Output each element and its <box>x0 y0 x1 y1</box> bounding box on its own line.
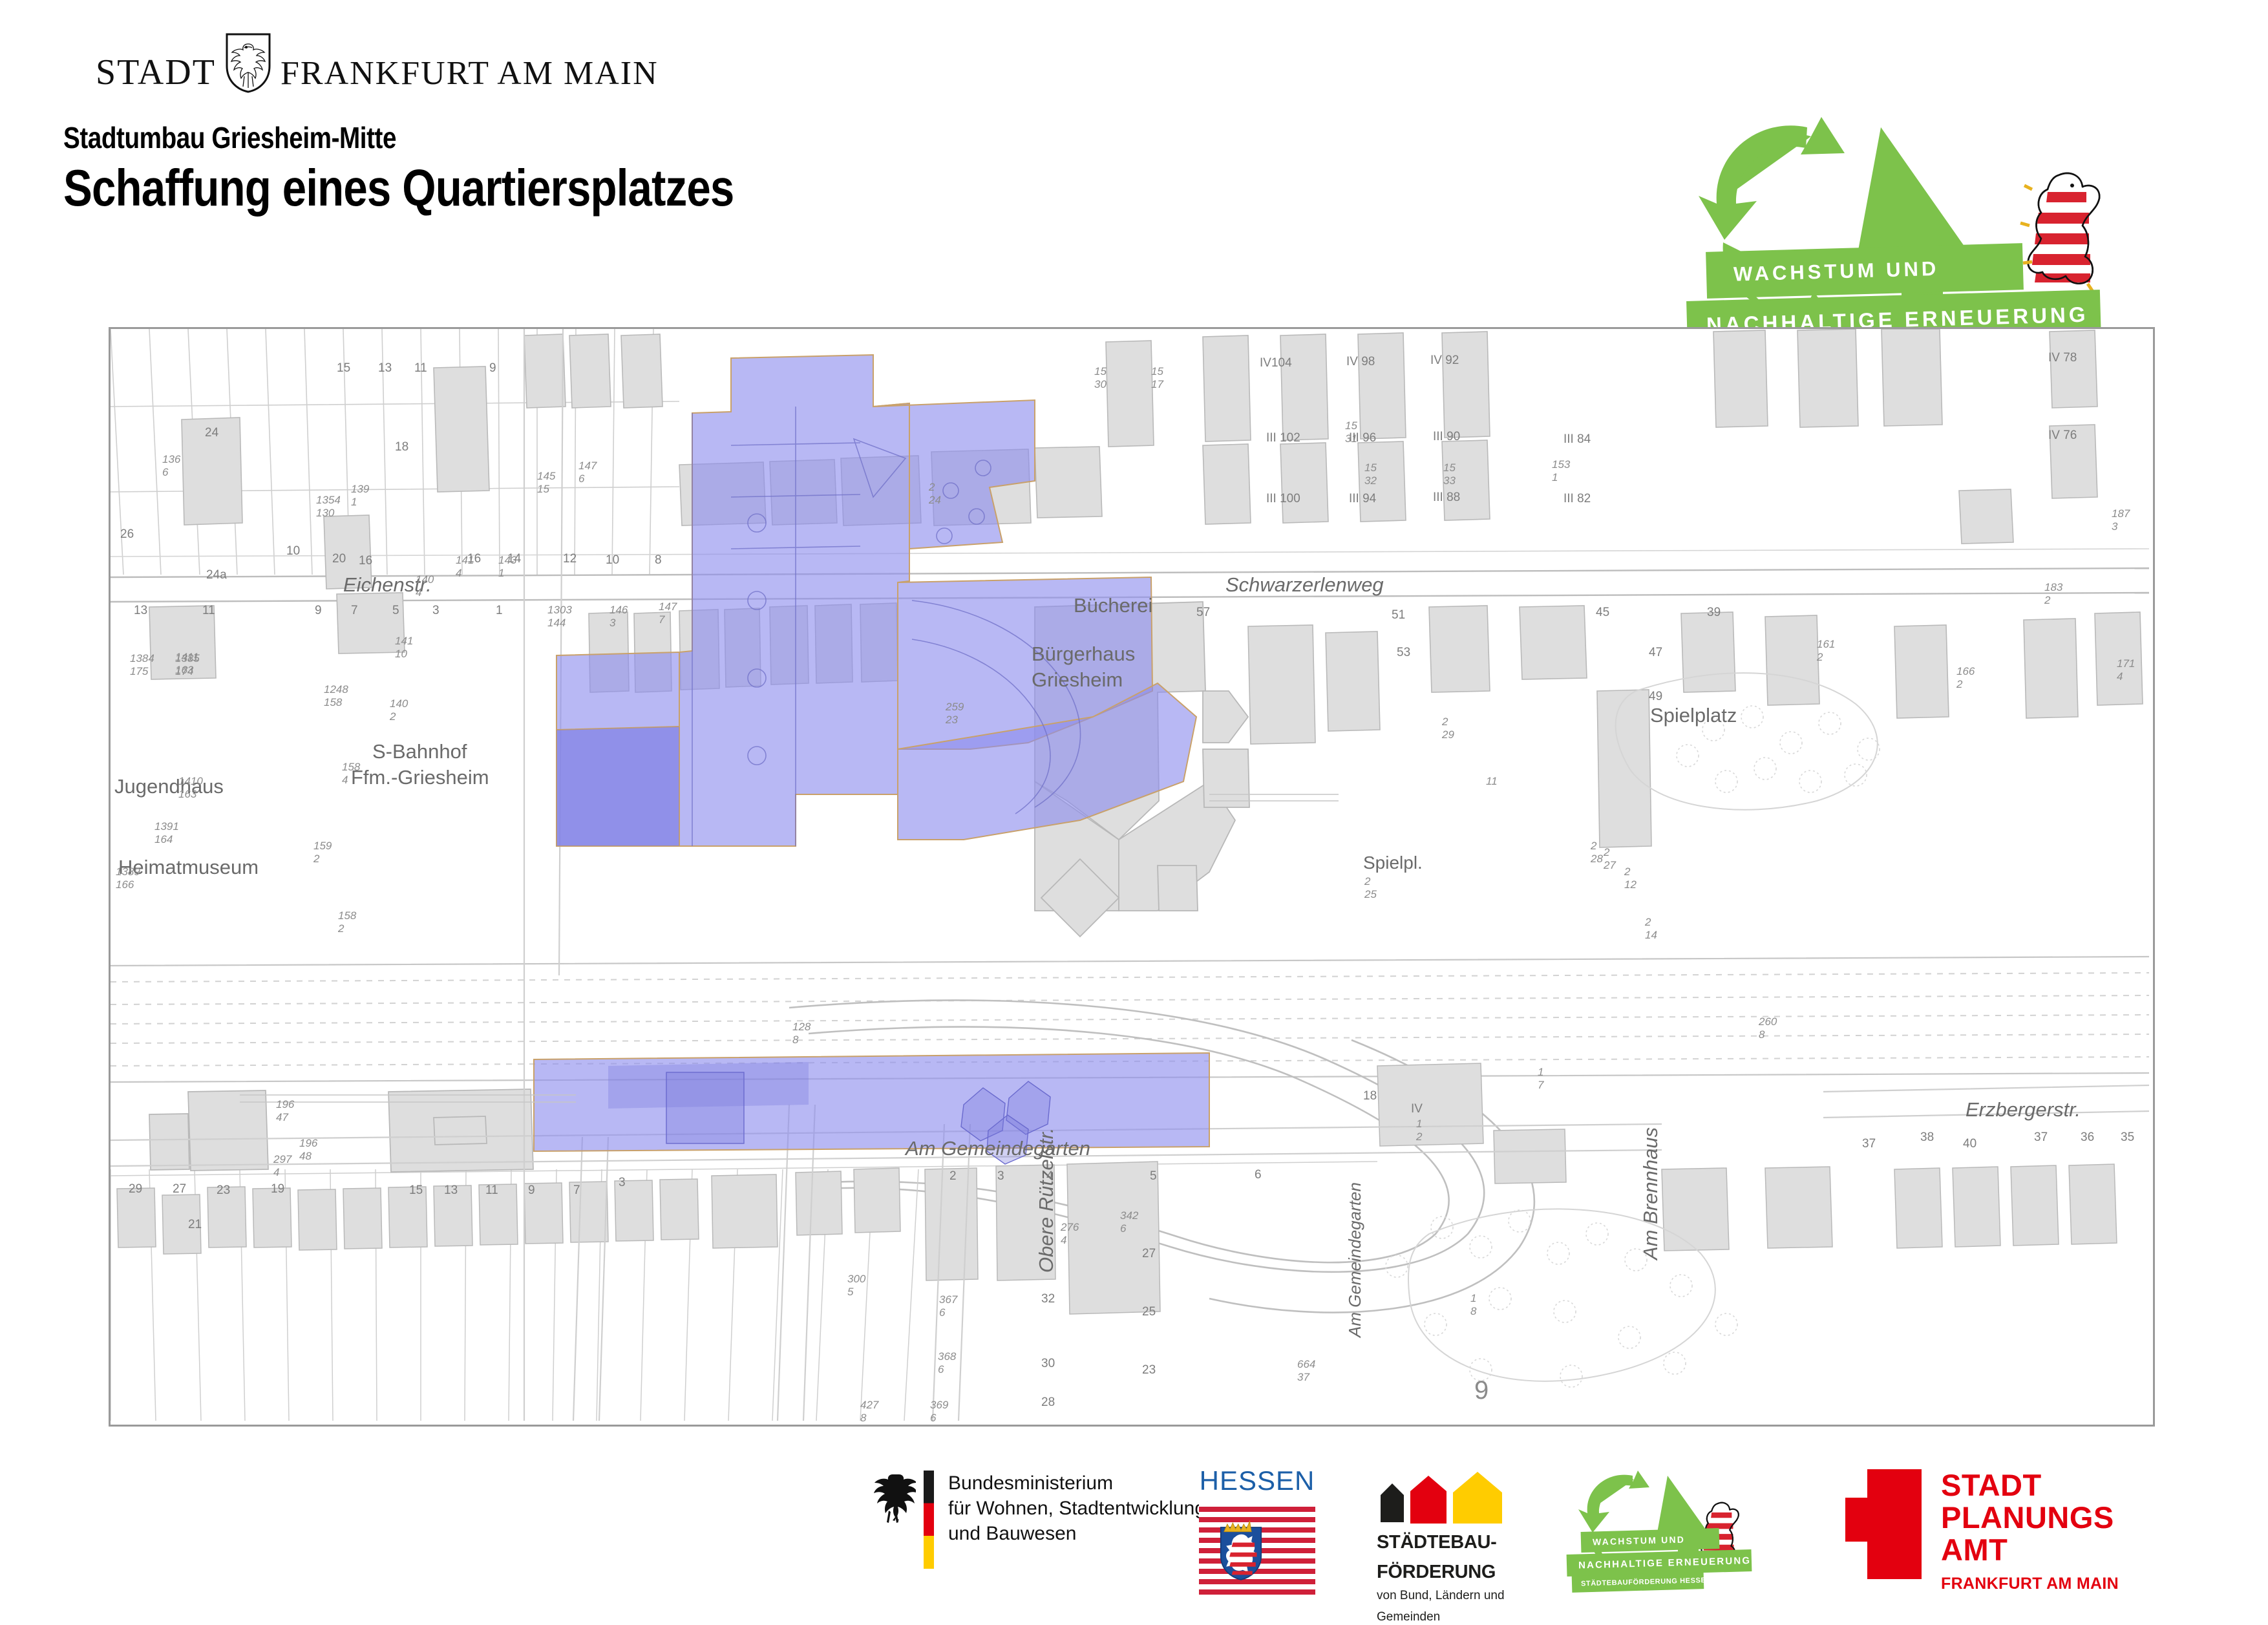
three-houses-icon <box>1377 1473 1538 1524</box>
page-title: Schaffung eines Quartiersplatzes <box>63 158 734 218</box>
bmwsb-line-1: Bundesministerium <box>948 1471 1205 1496</box>
page-header: STADT FRANKFURT AM MAIN Stadtumbau Gries… <box>0 0 2268 323</box>
frankfurt-f-mark-icon <box>1845 1469 1922 1579</box>
german-flag-bar <box>924 1471 934 1569</box>
city-of-frankfurt-logo: STADT FRANKFURT AM MAIN <box>96 31 659 90</box>
program-logo-footer-line-1: WACHSTUM UND <box>1581 1528 1720 1553</box>
hessen-logo: HESSEN <box>1199 1465 1315 1595</box>
hessen-wordmark: HESSEN <box>1199 1465 1315 1496</box>
bmwsb-logo: Bundesministerium für Wohnen, Stadtentwi… <box>869 1471 1205 1569</box>
program-logo-footer: WACHSTUM UND NACHHALTIGE ERNEUERUNG STÄD… <box>1577 1471 1784 1593</box>
hessen-coat-of-arms-icon <box>1216 1512 1266 1584</box>
bmwsb-text: Bundesministerium für Wohnen, Stadtentwi… <box>948 1471 1205 1546</box>
bundesadler-icon <box>869 1471 916 1526</box>
bmwsb-line-2: für Wohnen, Stadtentwicklung <box>948 1496 1205 1521</box>
footer-logos: Bundesministerium für Wohnen, Stadtentwi… <box>0 1458 2268 1603</box>
staedtebau-line-4: Gemeinden <box>1377 1609 1538 1625</box>
bmwsb-line-3: und Bauwesen <box>948 1521 1205 1546</box>
staedtebau-line-1: STÄDTEBAU- <box>1377 1531 1538 1553</box>
hessen-lion-icon <box>2010 164 2107 293</box>
program-logo-line-1: WACHSTUM UND <box>1706 243 2024 299</box>
stadtplanungsamt-logo: STADT PLANUNGS AMT FRANKFURT AM MAIN <box>1845 1469 2119 1593</box>
frankfurt-eagle-shield-icon <box>225 32 271 93</box>
staedtebaufoerderung-logo: STÄDTEBAU- FÖRDERUNG von Bund, Ländern u… <box>1377 1473 1538 1625</box>
spa-line-3: AMT <box>1941 1534 2119 1566</box>
map-drawing <box>111 329 2149 1421</box>
staedtebau-line-2: FÖRDERUNG <box>1377 1561 1538 1583</box>
project-subtitle: Stadtumbau Griesheim-Mitte <box>63 120 396 155</box>
hessen-flag <box>1199 1502 1315 1595</box>
cadastral-map[interactable]: Eichenstr. Schwarzerlenweg Erzbergerstr.… <box>109 327 2155 1427</box>
city-logo-word-stadt: STADT <box>96 54 216 90</box>
staedtebau-line-3: von Bund, Ländern und <box>1377 1588 1538 1604</box>
spa-line-4: FRANKFURT AM MAIN <box>1941 1575 2119 1593</box>
spa-line-2: PLANUNGS <box>1941 1502 2119 1534</box>
spa-line-1: STADT <box>1941 1469 2119 1502</box>
city-logo-word-frankfurt: FRANKFURT AM MAIN <box>281 57 659 90</box>
